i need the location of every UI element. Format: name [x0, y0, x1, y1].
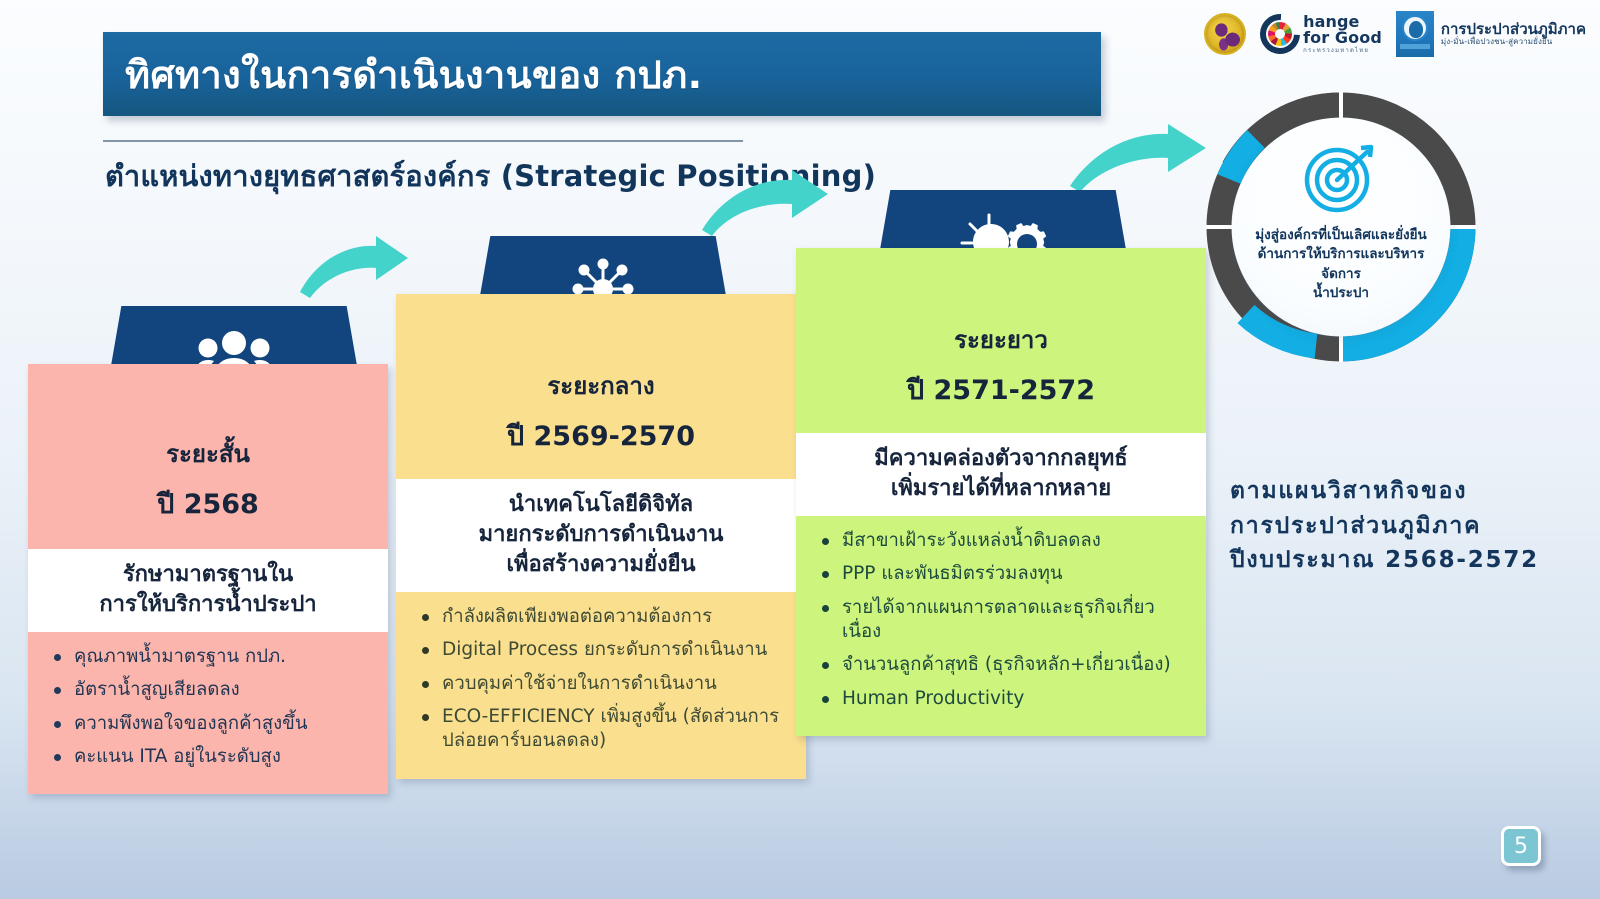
- vision-inner-disc: มุ่งสู่องค์กรที่เป็นเลิศและยั่งยืน ด้านก…: [1232, 118, 1450, 336]
- stage-long-statement-line-1: มีความคล่องตัวจากกลยุทธ์: [806, 444, 1196, 474]
- ministry-emblem-icon: [1204, 13, 1246, 55]
- list-item: คุณภาพน้ำมาตรฐาน กปภ.: [52, 645, 374, 669]
- stage-long-name: ระยะยาว: [796, 320, 1206, 359]
- stage-short-statement-line-2: การให้บริการน้ำประปา: [38, 590, 378, 620]
- vision-line-3: น้ำประปา: [1242, 284, 1440, 303]
- stage-long-header: ระยะยาว ปี 2571-2572: [796, 248, 1206, 433]
- subtitle-divider: [103, 140, 743, 142]
- caption-line-1: ตามแผนวิสาหกิจของ: [1230, 474, 1570, 509]
- stage-mid-statement: นำเทคโนโลยีดิจิทัล มายกระดับการดำเนินงาน…: [396, 479, 806, 592]
- progress-arrow-1-icon: [298, 236, 410, 306]
- list-item: กำลังผลิตเพียงพอต่อความต้องการ: [420, 605, 792, 629]
- pwa-name: การประปาส่วนภูมิภาค: [1441, 21, 1586, 38]
- list-item: Human Productivity: [820, 687, 1192, 711]
- stage-card-short: ระยะสั้น ปี 2568 รักษามาตรฐานใน การให้บร…: [28, 364, 388, 794]
- vision-line-1: มุ่งสู่องค์กรที่เป็นเลิศและยั่งยืน: [1242, 226, 1440, 245]
- list-item: มีสาขาเฝ้าระวังแหล่งน้ำดิบลดลง: [820, 529, 1192, 553]
- stage-long-statement-line-2: เพิ่มรายได้ที่หลากหลาย: [806, 474, 1196, 504]
- vision-circle: มุ่งสู่องค์กรที่เป็นเลิศและยั่งยืน ด้านก…: [1196, 82, 1486, 372]
- vision-statement: มุ่งสู่องค์กรที่เป็นเลิศและยั่งยืน ด้านก…: [1232, 226, 1450, 304]
- progress-arrow-2-icon: [700, 170, 830, 244]
- list-item: ควบคุมค่าใช้จ่ายในการดำเนินงาน: [420, 672, 792, 696]
- stage-mid-year: ปี 2569-2570: [396, 414, 806, 457]
- plan-reference-caption: ตามแผนวิสาหกิจของ การประปาส่วนภูมิภาค ปี…: [1230, 474, 1570, 578]
- pwa-logo: การประปาส่วนภูมิภาค มุ่ง-มั่น-เพื่อปวงชน…: [1396, 11, 1586, 57]
- list-item: Digital Process ยกระดับการดำเนินงาน: [420, 638, 792, 662]
- cfg-c-icon: [1260, 14, 1300, 54]
- stage-long-bullet-list: มีสาขาเฝ้าระวังแหล่งน้ำดิบลดลง PPP และพั…: [796, 516, 1206, 736]
- stage-long-statement: มีความคล่องตัวจากกลยุทธ์ เพิ่มรายได้ที่ห…: [796, 433, 1206, 516]
- stage-short-name: ระยะสั้น: [28, 434, 388, 473]
- stage-card-mid: ระยะกลาง ปี 2569-2570 นำเทคโนโลยีดิจิทัล…: [396, 294, 806, 779]
- list-item: PPP และพันธมิตรร่วมลงทุน: [820, 562, 1192, 586]
- logo-group: hange for Good กระทรวงมหาดไทย การประปาส่…: [1204, 6, 1586, 62]
- progress-arrow-3-icon: [1068, 124, 1208, 200]
- page-title-bar: ทิศทางในการดำเนินงานของ กปภ.: [103, 32, 1101, 116]
- target-bullseye-icon: [1301, 144, 1381, 218]
- stage-mid-statement-line-1: นำเทคโนโลยีดิจิทัล: [406, 490, 796, 520]
- caption-line-3: ปีงบประมาณ 2568-2572: [1230, 543, 1570, 578]
- vision-line-2: ด้านการให้บริการและบริหารจัดการ: [1242, 245, 1440, 284]
- list-item: จำนวนลูกค้าสุทธิ (ธุรกิจหลัก+เกี่ยวเนื่อ…: [820, 653, 1192, 677]
- stage-short-header: ระยะสั้น ปี 2568: [28, 364, 388, 549]
- stage-mid-header: ระยะกลาง ปี 2569-2570: [396, 294, 806, 479]
- stage-mid-statement-line-3: เพื่อสร้างความยั่งยืน: [406, 550, 796, 580]
- page-title: ทิศทางในการดำเนินงานของ กปภ.: [125, 44, 702, 105]
- list-item: คะแนน ITA อยู่ในระดับสูง: [52, 745, 374, 769]
- pwa-tagline: มุ่ง-มั่น-เพื่อปวงชน-สู่ความยั่งยืน: [1441, 38, 1586, 47]
- stage-short-year: ปี 2568: [28, 482, 388, 525]
- list-item: รายได้จากแผนการตลาดและธุรกิจเกี่ยวเนื่อง: [820, 596, 1192, 645]
- cfg-line3: กระทรวงมหาดไทย: [1303, 48, 1382, 54]
- pwa-seal-icon: [1396, 11, 1434, 57]
- change-for-good-logo: hange for Good กระทรวงมหาดไทย: [1260, 14, 1382, 54]
- stage-short-bullet-list: คุณภาพน้ำมาตรฐาน กปภ. อัตราน้ำสูญเสียลดล…: [28, 632, 388, 795]
- stage-mid-statement-line-2: มายกระดับการดำเนินงาน: [406, 520, 796, 550]
- stage-mid-name: ระยะกลาง: [396, 366, 806, 405]
- list-item: อัตราน้ำสูญเสียลดลง: [52, 678, 374, 702]
- list-item: ความพึงพอใจของลูกค้าสูงขึ้น: [52, 712, 374, 736]
- caption-line-2: การประปาส่วนภูมิภาค: [1230, 509, 1570, 544]
- page-number-badge: 5: [1501, 826, 1541, 866]
- stage-card-long: ระยะยาว ปี 2571-2572 มีความคล่องตัวจากกล…: [796, 248, 1206, 736]
- stage-mid-bullet-list: กำลังผลิตเพียงพอต่อความต้องการ Digital P…: [396, 592, 806, 779]
- stage-short-statement: รักษามาตรฐานใน การให้บริการน้ำประปา: [28, 549, 388, 632]
- list-item: ECO-EFFICIENCY เพิ่มสูงขึ้น (สัดส่วนการป…: [420, 705, 792, 754]
- stage-long-year: ปี 2571-2572: [796, 368, 1206, 411]
- stage-short-statement-line-1: รักษามาตรฐานใน: [38, 560, 378, 590]
- cfg-line2: for Good: [1303, 30, 1382, 46]
